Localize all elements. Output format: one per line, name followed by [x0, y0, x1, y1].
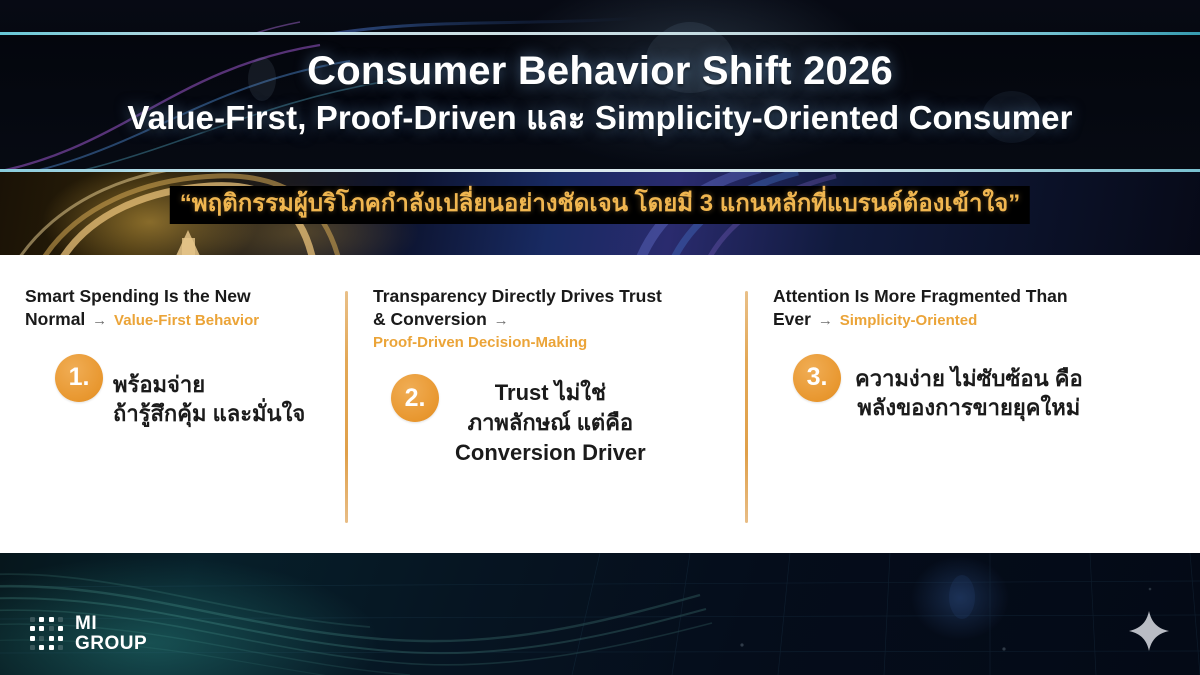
brand-logo-line1: MI — [75, 614, 147, 634]
column-1-body-line-1: พร้อมจ่าย — [113, 370, 305, 400]
hero-top-divider-line — [0, 32, 1200, 35]
column-3-heading-line1: Attention Is More Fragmented Than — [773, 286, 1068, 306]
number-badge-3: 3. — [793, 354, 841, 402]
column-3-body-line-2: พลังของการขายยุคใหม่ — [855, 393, 1083, 423]
slide-title-sub: Value-First, Proof-Driven และ Simplicity… — [0, 100, 1200, 136]
column-1-accent-label: Value-First Behavior — [114, 312, 259, 329]
arrow-icon: → — [816, 312, 835, 329]
slide-title-group: Consumer Behavior Shift 2026 Value-First… — [0, 35, 1200, 136]
content-panel: Smart Spending Is the New Normal → Value… — [0, 255, 1200, 553]
column-3-body-line-1: ความง่าย ไม่ซับซ้อน คือ — [855, 364, 1083, 394]
arrow-icon: → — [492, 312, 511, 329]
footer-grid-decoration — [0, 553, 1200, 675]
column-2-body-line-1: Trust ไม่ใช่ — [455, 378, 646, 408]
column-3-simplicity-oriented: Attention Is More Fragmented Than Ever →… — [745, 255, 1200, 553]
brand-logo: MI GROUP — [30, 614, 147, 654]
quote-band: “พฤติกรรมผู้บริโภคกำลังเปลี่ยนอย่างชัดเจ… — [0, 172, 1200, 256]
four-point-star-icon — [1128, 610, 1170, 652]
column-3-heading-line2: Ever — [773, 309, 811, 329]
column-3-body: 3. ความง่าย ไม่ซับซ้อน คือ พลังของการขาย… — [793, 354, 1180, 424]
column-2-heading-line2: & Conversion — [373, 309, 487, 329]
arrow-icon: → — [90, 312, 109, 329]
column-2-body-line-2: ภาพลักษณ์ แต่คือ — [455, 408, 646, 438]
quote-highlight-box: “พฤติกรรมผู้บริโภคกำลังเปลี่ยนอย่างชัดเจ… — [170, 186, 1030, 224]
column-1-body-text: พร้อมจ่าย ถ้ารู้สึกคุ้ม และมั่นใจ — [113, 370, 305, 430]
column-1-body-line-2: ถ้ารู้สึกคุ้ม และมั่นใจ — [113, 399, 305, 429]
brand-logo-line2: GROUP — [75, 634, 147, 654]
column-1-heading: Smart Spending Is the New Normal → Value… — [25, 285, 325, 332]
column-2-body-line-3: Conversion Driver — [455, 438, 646, 468]
column-3-accent-label: Simplicity-Oriented — [840, 312, 978, 329]
brand-logo-text: MI GROUP — [75, 614, 147, 654]
number-badge-1: 1. — [55, 354, 103, 402]
title-inner-panel: Consumer Behavior Shift 2026 Value-First… — [0, 35, 1200, 169]
slide-title-main: Consumer Behavior Shift 2026 — [0, 49, 1200, 93]
column-1-value-first: Smart Spending Is the New Normal → Value… — [0, 255, 345, 553]
column-1-heading-line2: Normal — [25, 309, 85, 329]
dot-grid-icon — [30, 617, 64, 651]
column-3-body-text: ความง่าย ไม่ซับซ้อน คือ พลังของการขายยุค… — [855, 364, 1083, 424]
column-2-heading-line1: Transparency Directly Drives Trust — [373, 286, 662, 306]
quote-text: “พฤติกรรมผู้บริโภคกำลังเปลี่ยนอย่างชัดเจ… — [180, 189, 1020, 219]
column-1-body: 1. พร้อมจ่าย ถ้ารู้สึกคุ้ม และมั่นใจ — [55, 354, 325, 430]
column-2-proof-driven: Transparency Directly Drives Trust & Con… — [345, 255, 745, 553]
column-3-heading: Attention Is More Fragmented Than Ever →… — [773, 285, 1180, 332]
three-column-layout: Smart Spending Is the New Normal → Value… — [0, 255, 1200, 553]
column-2-accent-label: Proof-Driven Decision-Making — [373, 333, 727, 353]
column-divider-2 — [745, 291, 748, 523]
column-1-heading-line1: Smart Spending Is the New — [25, 286, 251, 306]
column-2-heading: Transparency Directly Drives Trust & Con… — [373, 285, 727, 352]
column-divider-1 — [345, 291, 348, 523]
column-2-body: 2. Trust ไม่ใช่ ภาพลักษณ์ แต่คือ Convers… — [391, 374, 727, 468]
footer-band — [0, 553, 1200, 675]
number-badge-2: 2. — [391, 374, 439, 422]
column-2-body-text: Trust ไม่ใช่ ภาพลักษณ์ แต่คือ Conversion… — [455, 378, 646, 468]
slide-root: Consumer Behavior Shift 2026 Value-First… — [0, 0, 1200, 675]
title-hero-band: Consumer Behavior Shift 2026 Value-First… — [0, 0, 1200, 175]
